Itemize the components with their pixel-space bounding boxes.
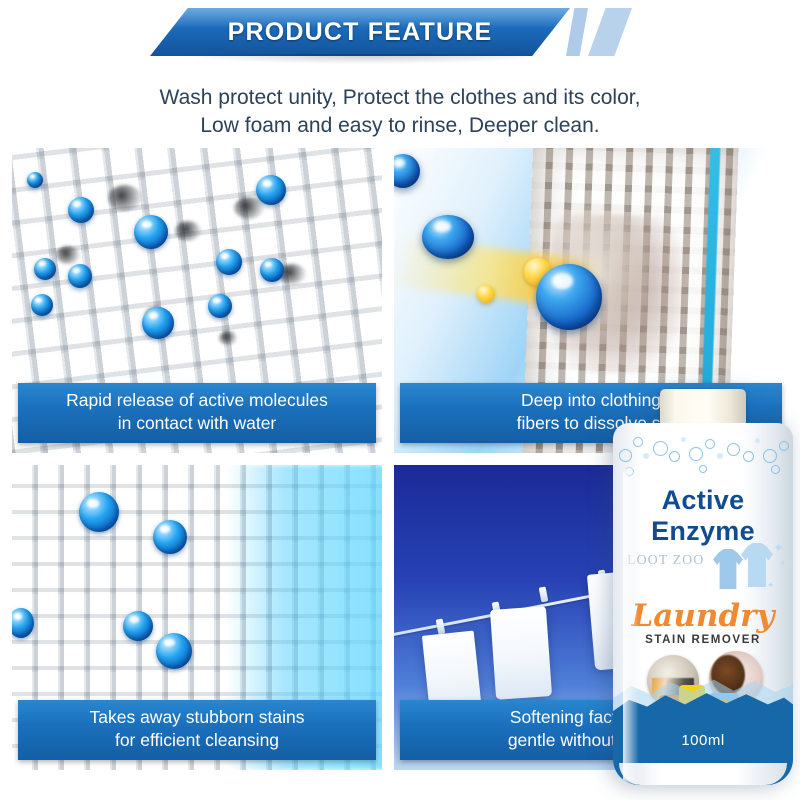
bottle-body: Active Enzyme LOOT ZOO ✦ ✦ ✦ Laundry STA…: [613, 423, 793, 785]
volume-label: 100ml: [613, 732, 793, 749]
caption-line-1: Rapid release of active molecules: [22, 389, 372, 412]
garment-tank-top: [489, 607, 551, 701]
laundry-script-word: Laundry: [613, 599, 793, 633]
subtitle-line-1: Wash protect unity, Protect the clothes …: [0, 84, 800, 112]
tile-caption: Takes away stubborn stains for efficient…: [18, 700, 376, 760]
stain-remover-subtitle: STAIN REMOVER: [613, 634, 793, 646]
tile-caption: Rapid release of active molecules in con…: [18, 383, 376, 443]
product-feature-infographic: PRODUCT FEATURE Wash protect unity, Prot…: [0, 0, 800, 800]
caption-line-1: Takes away stubborn stains: [22, 706, 372, 729]
feature-tile-stubborn-stains: Takes away stubborn stains for efficient…: [12, 465, 382, 770]
product-bottle: Active Enzyme LOOT ZOO ✦ ✦ ✦ Laundry STA…: [613, 389, 793, 785]
subtitle-line-2: Low foam and easy to rinse, Deeper clean…: [0, 112, 800, 140]
banner-drop-shadow: [180, 54, 550, 64]
shirt-icon: [713, 549, 743, 589]
product-name-line-1: Active: [613, 485, 793, 516]
clothing-icons: ✦ ✦ ✦: [711, 539, 785, 595]
sparkle-icon: ✦: [767, 579, 775, 592]
sparkle-icon: ✦: [779, 557, 787, 570]
header-banner: PRODUCT FEATURE: [0, 8, 800, 64]
banner-accent-stripe-2: [588, 8, 632, 56]
caption-line-2: in contact with water: [22, 412, 372, 435]
feature-tile-rapid-release: Rapid release of active molecules in con…: [12, 148, 382, 453]
sparkle-icon: ✦: [773, 541, 784, 554]
bottle-highlight: [623, 467, 639, 785]
caption-line-2: for efficient cleansing: [22, 729, 372, 752]
product-name: Active Enzyme: [613, 485, 793, 547]
subtitle-block: Wash protect unity, Protect the clothes …: [0, 84, 800, 140]
bottle-base: [619, 763, 787, 785]
bubble-pattern: [613, 423, 793, 485]
banner-title: PRODUCT FEATURE: [150, 8, 570, 56]
